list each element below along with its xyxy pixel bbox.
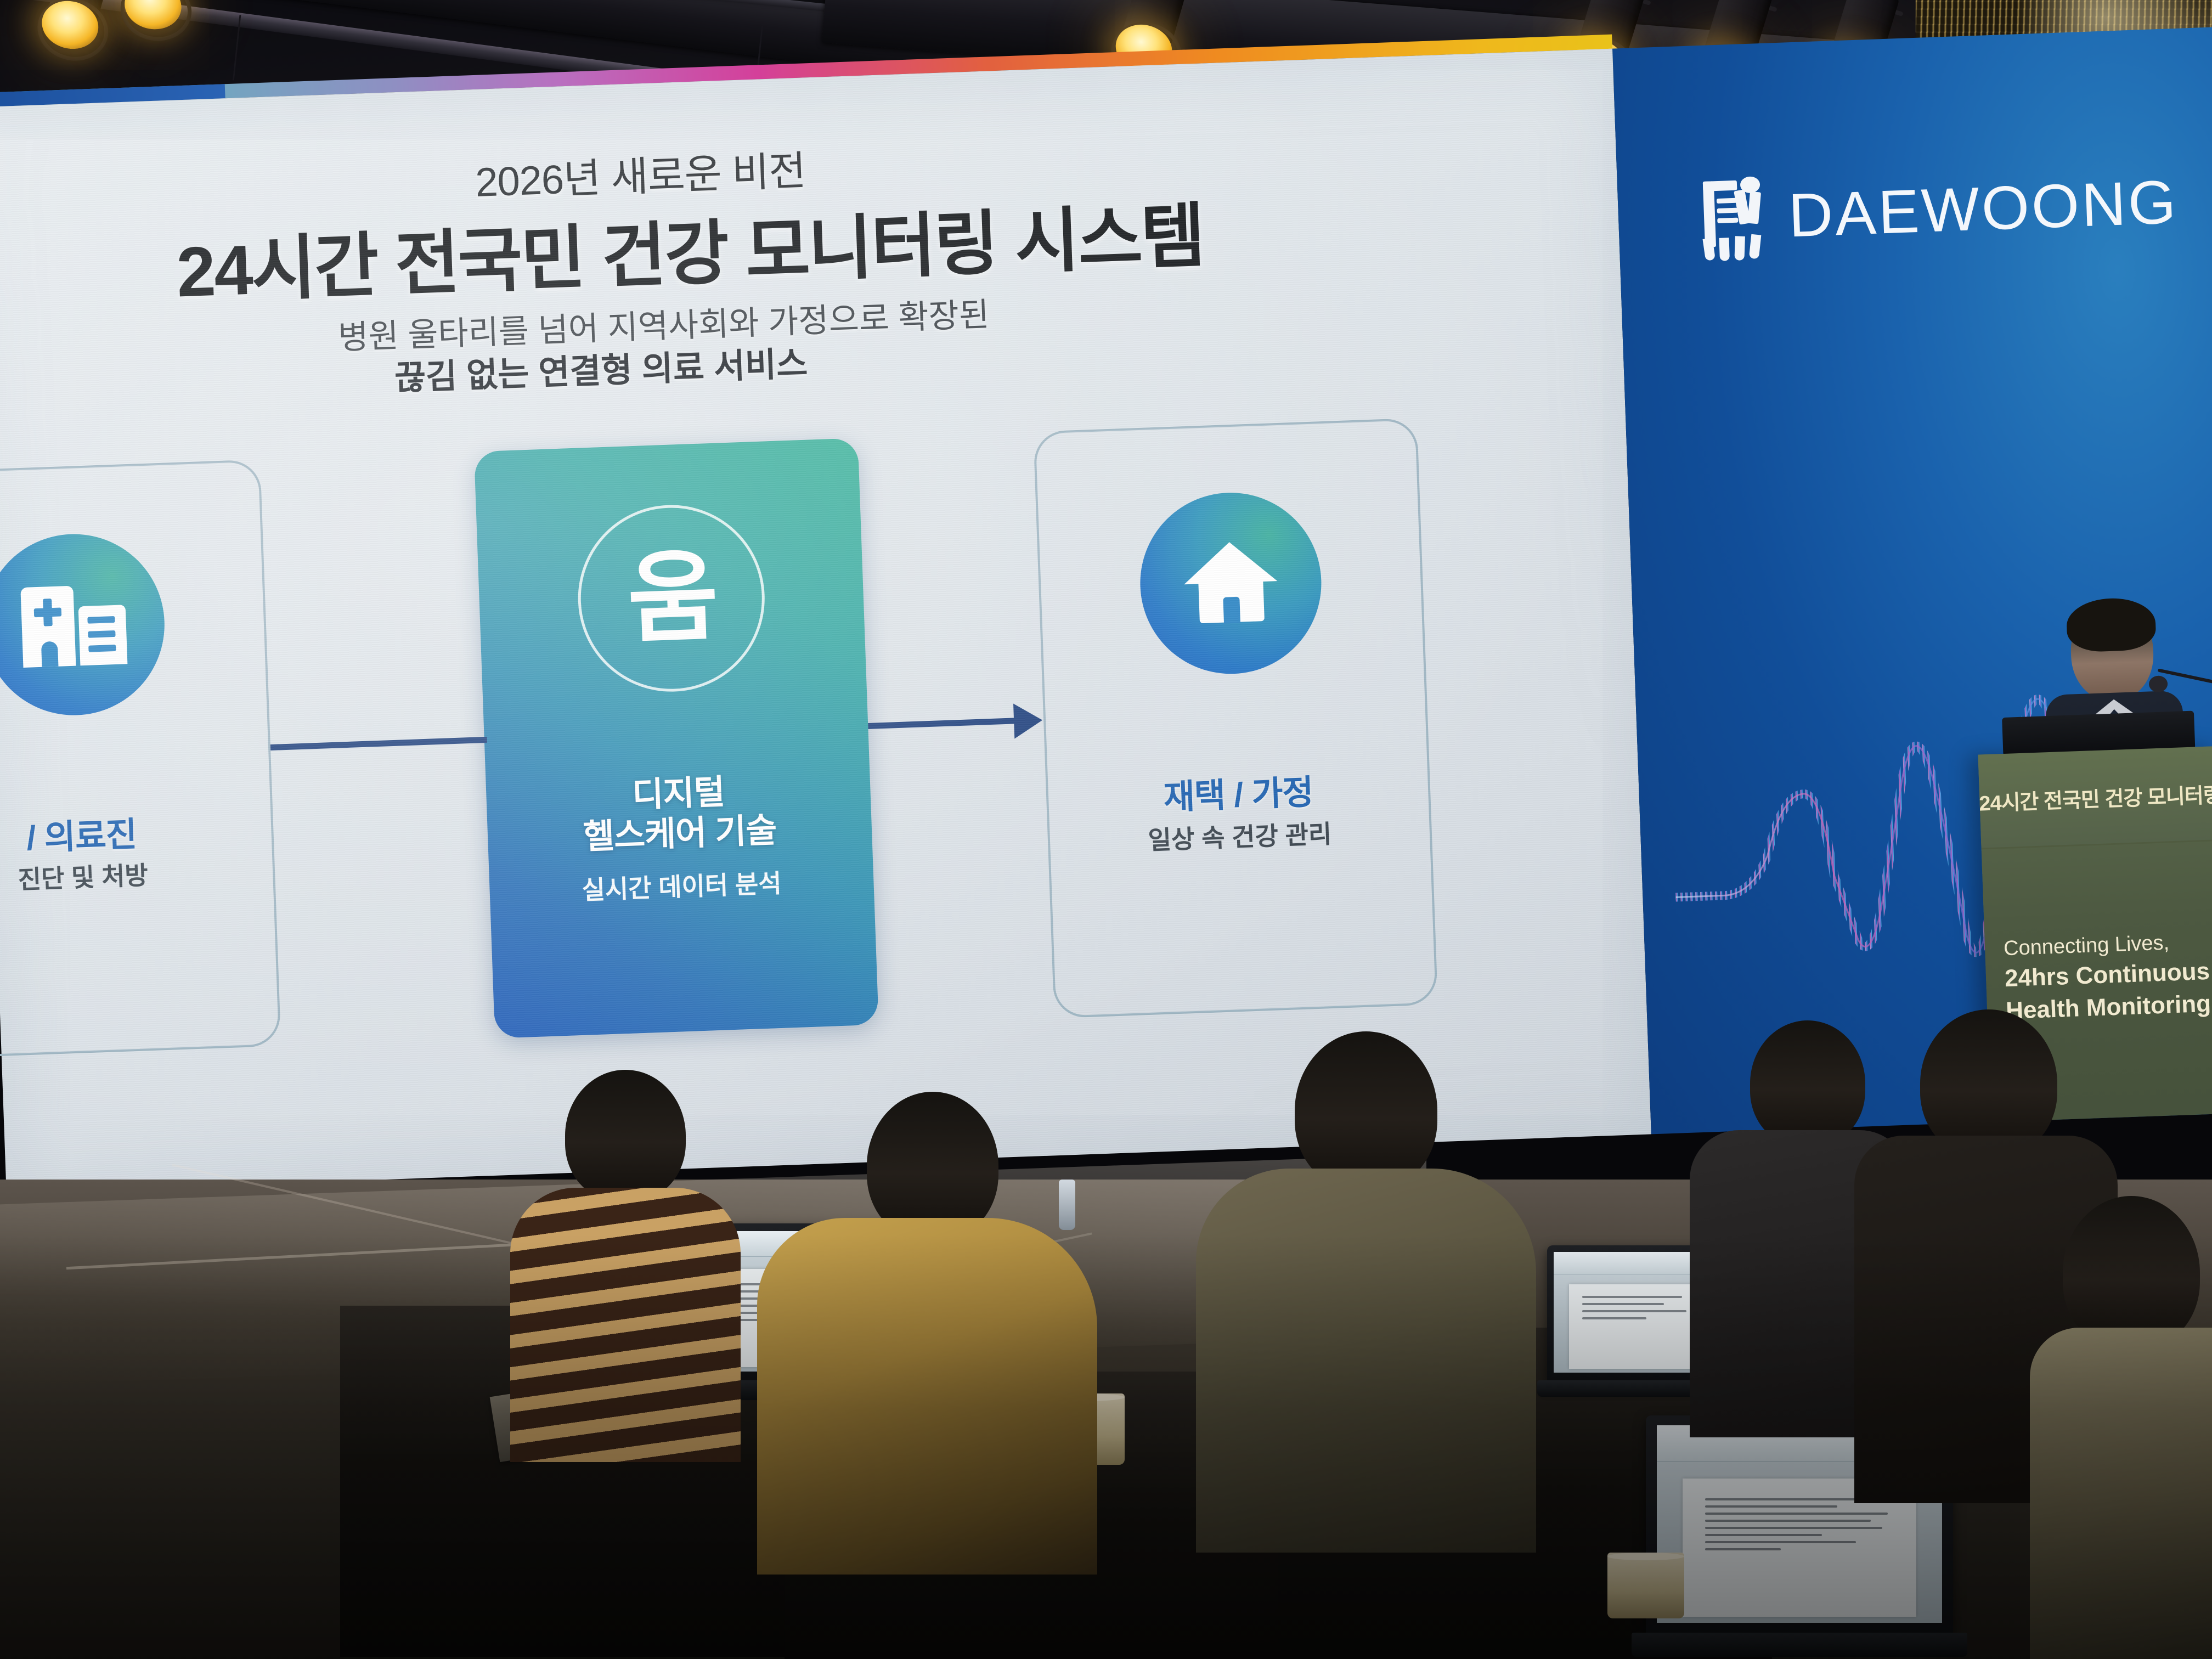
hospital-icon [0,531,168,719]
stage-spotlight [116,0,202,37]
flow-connector-2 [868,718,1015,729]
attendee-right-edge [2030,1196,2212,1659]
brand-panel: DAEWOONG [1612,26,2212,1134]
attendee-olive-jacket [1196,1031,1536,1553]
attendee-striped-sweater [510,1070,741,1454]
slide-surface: 2026년 새로운 비전 24시간 전국민 건강 모니터링 시스템 병원 울타리… [0,49,1651,1193]
card-digital-subtitle: 실시간 데이터 분석 [489,860,874,910]
card-hospital: / 의료진 진단 및 처방 [0,459,281,1059]
coffee-cup [1607,1553,1684,1618]
card-home: 재택 / 가정 일상 속 건강 관리 [1033,418,1438,1018]
daewoong-logo: DAEWOONG [1699,160,2179,259]
attendee-mustard-puffer [757,1092,1097,1575]
flow-connector-1 [270,737,487,751]
card-digital-healthcare: 움 디지털 헬스케어 기술 실시간 데이터 분석 [474,438,879,1038]
home-icon [1137,489,1325,677]
podium-korean-text: 24시간 전국민 건강 모니터링 [1978,777,2212,816]
flow-arrow-icon [1013,703,1043,739]
card-digital-title: 디지털 헬스케어 기술 [486,767,872,861]
um-logo-icon: 움 [575,502,768,695]
conference-photo: 2026년 새로운 비전 24시간 전국민 건강 모니터링 시스템 병원 울타리… [0,0,2212,1659]
slide-card-row: / 의료진 진단 및 처방 움 디지털 헬스케어 기술 실시간 데이터 분석 [0,411,1643,1104]
slide-headline: 24시간 전국민 건강 모니터링 시스템 [174,179,1205,317]
daewoong-brand-name: DAEWOONG [1787,166,2179,251]
um-glyph: 움 [626,548,717,650]
podium-korean-banner: 24시간 전국민 건강 모니터링 [1978,746,2212,850]
daewoong-bear-icon [1699,175,1767,259]
